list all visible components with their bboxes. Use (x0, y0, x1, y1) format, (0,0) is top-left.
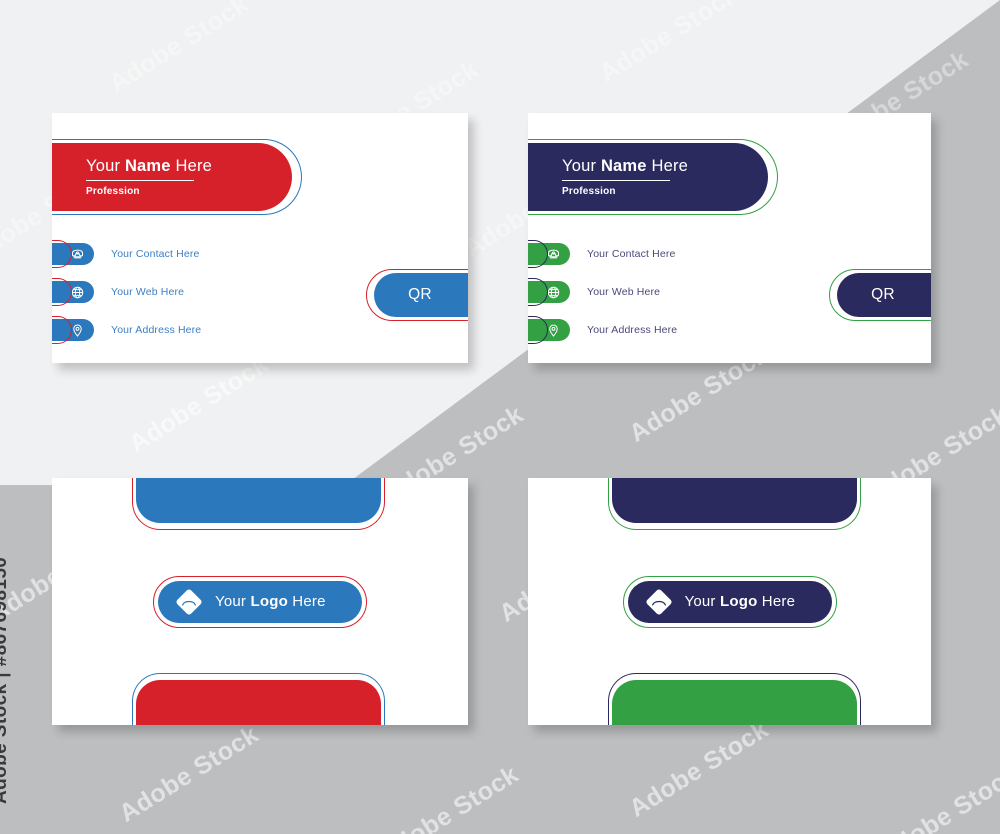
name-divider (562, 180, 670, 181)
globe-icon (70, 285, 85, 300)
contact-icon-pill (52, 281, 94, 303)
contact-label: Your Contact Here (111, 248, 200, 260)
logo-pill[interactable]: Your Logo Here (158, 581, 362, 623)
qr-label: QR (408, 286, 432, 304)
card-back-red[interactable]: Your Logo Here (52, 478, 468, 725)
profession-text: Profession (562, 186, 768, 197)
contact-pill-outline (52, 278, 72, 306)
card-back-navy[interactable]: Your Logo Here (528, 478, 931, 725)
contact-pill-outline (52, 240, 72, 268)
location-pin-icon (70, 323, 85, 338)
bottom-shape (612, 680, 857, 725)
stock-id-label: Adobe Stock | #867698150 (0, 557, 12, 804)
contact-label: Your Address Here (111, 324, 201, 336)
contact-label: Your Web Here (587, 286, 660, 298)
contact-icon-pill (52, 243, 94, 265)
profession-text: Profession (86, 186, 292, 197)
top-shape (136, 478, 381, 523)
card-front-navy[interactable]: Your Name Here Profession Your Contact H… (528, 113, 931, 363)
qr-badge[interactable]: QR (837, 273, 931, 317)
contact-icon-pill (528, 281, 570, 303)
logo-text: Your Logo Here (685, 593, 796, 610)
name-banner: Your Name Here Profession (528, 143, 768, 211)
contact-label: Your Web Here (111, 286, 184, 298)
globe-icon (546, 285, 561, 300)
logo-pill[interactable]: Your Logo Here (628, 581, 832, 623)
business-card-mockup-sheet: Adobe Stock Adobe Stock Adobe Stock Adob… (0, 0, 1000, 834)
location-pin-icon (546, 323, 561, 338)
contact-pill-outline (528, 278, 548, 306)
top-shape (612, 478, 857, 523)
name-divider (86, 180, 194, 181)
contact-icon-pill (52, 319, 94, 341)
contact-label: Your Address Here (587, 324, 677, 336)
contact-label: Your Contact Here (587, 248, 676, 260)
contact-pill-outline (528, 316, 548, 344)
contact-icon-pill (528, 243, 570, 265)
name-text: Your Name Here (86, 157, 292, 175)
contact-icon-pill (528, 319, 570, 341)
name-banner: Your Name Here Profession (52, 143, 292, 211)
contact-pill-outline (528, 240, 548, 268)
contact-row[interactable]: Your Contact Here (528, 235, 931, 273)
card-front-red[interactable]: Your Name Here Profession Your Contact H… (52, 113, 468, 363)
logo-text: Your Logo Here (215, 593, 326, 610)
qr-badge[interactable]: QR (374, 273, 468, 317)
phone-icon (546, 247, 561, 262)
logo-diamond-icon (644, 587, 674, 617)
qr-label: QR (871, 286, 895, 304)
contact-row[interactable]: Your Contact Here (52, 235, 468, 273)
contact-pill-outline (52, 316, 72, 344)
bottom-shape (136, 680, 381, 725)
logo-diamond-icon (174, 587, 204, 617)
phone-icon (70, 247, 85, 262)
name-text: Your Name Here (562, 157, 768, 175)
